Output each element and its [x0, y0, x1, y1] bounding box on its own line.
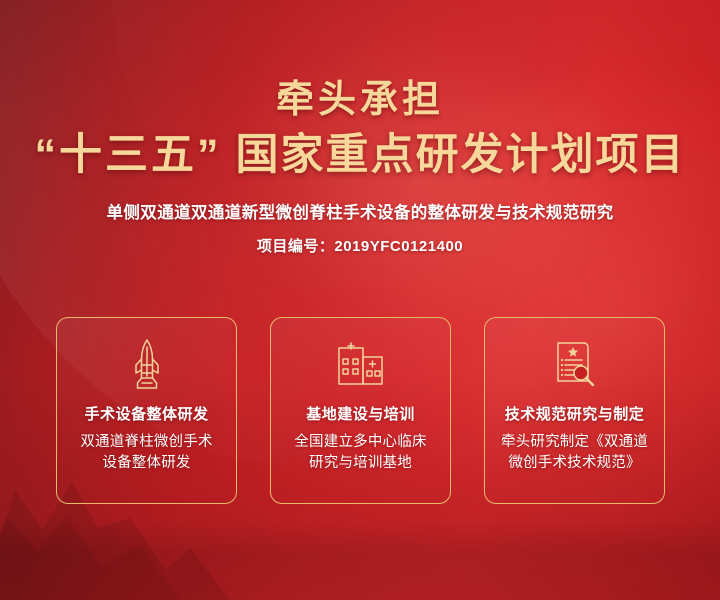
- page-title-quoted: “十三五”: [35, 131, 222, 179]
- document-search-icon: [552, 338, 598, 390]
- poster-root: 牵头承担 “十三五”国家重点研发计划项目 单侧双通道双通道新型微创脊柱手术设备的…: [0, 0, 720, 600]
- rocket-icon: [130, 338, 164, 390]
- feature-card-title: 手术设备整体研发: [84, 403, 208, 424]
- feature-card-body: 双通道脊柱微创手术设备整体研发: [72, 432, 220, 474]
- feature-card[interactable]: 基地建设与培训 全国建立多中心临床研究与培训基地: [270, 317, 451, 504]
- feature-card-list: 手术设备整体研发 双通道脊柱微创手术设备整体研发: [56, 317, 665, 504]
- feature-card-title: 技术规范研究与制定: [505, 403, 645, 424]
- background-lower-band: [0, 520, 720, 600]
- feature-card-body: 全国建立多中心临床研究与培训基地: [286, 432, 434, 474]
- feature-card-title: 基地建设与培训: [306, 403, 415, 424]
- page-title-rest: 国家重点研发计划项目: [236, 131, 686, 179]
- feature-card[interactable]: 手术设备整体研发 双通道脊柱微创手术设备整体研发: [56, 317, 237, 504]
- project-description: 单侧双通道双通道新型微创脊柱手术设备的整体研发与技术规范研究: [0, 199, 720, 223]
- feature-card[interactable]: 技术规范研究与制定 牵头研究制定《双通道微创手术技术规范》: [484, 317, 665, 504]
- project-code: 项目编号：2019YFC0121400: [0, 235, 720, 256]
- page-title-main: 牵头承担: [0, 80, 720, 120]
- page-title-sub: “十三五”国家重点研发计划项目: [0, 132, 720, 178]
- poster-header: 牵头承担 “十三五”国家重点研发计划项目 单侧双通道双通道新型微创脊柱手术设备的…: [0, 0, 720, 256]
- feature-card-body: 牵头研究制定《双通道微创手术技术规范》: [493, 432, 656, 474]
- hospital-building-icon: [336, 338, 386, 390]
